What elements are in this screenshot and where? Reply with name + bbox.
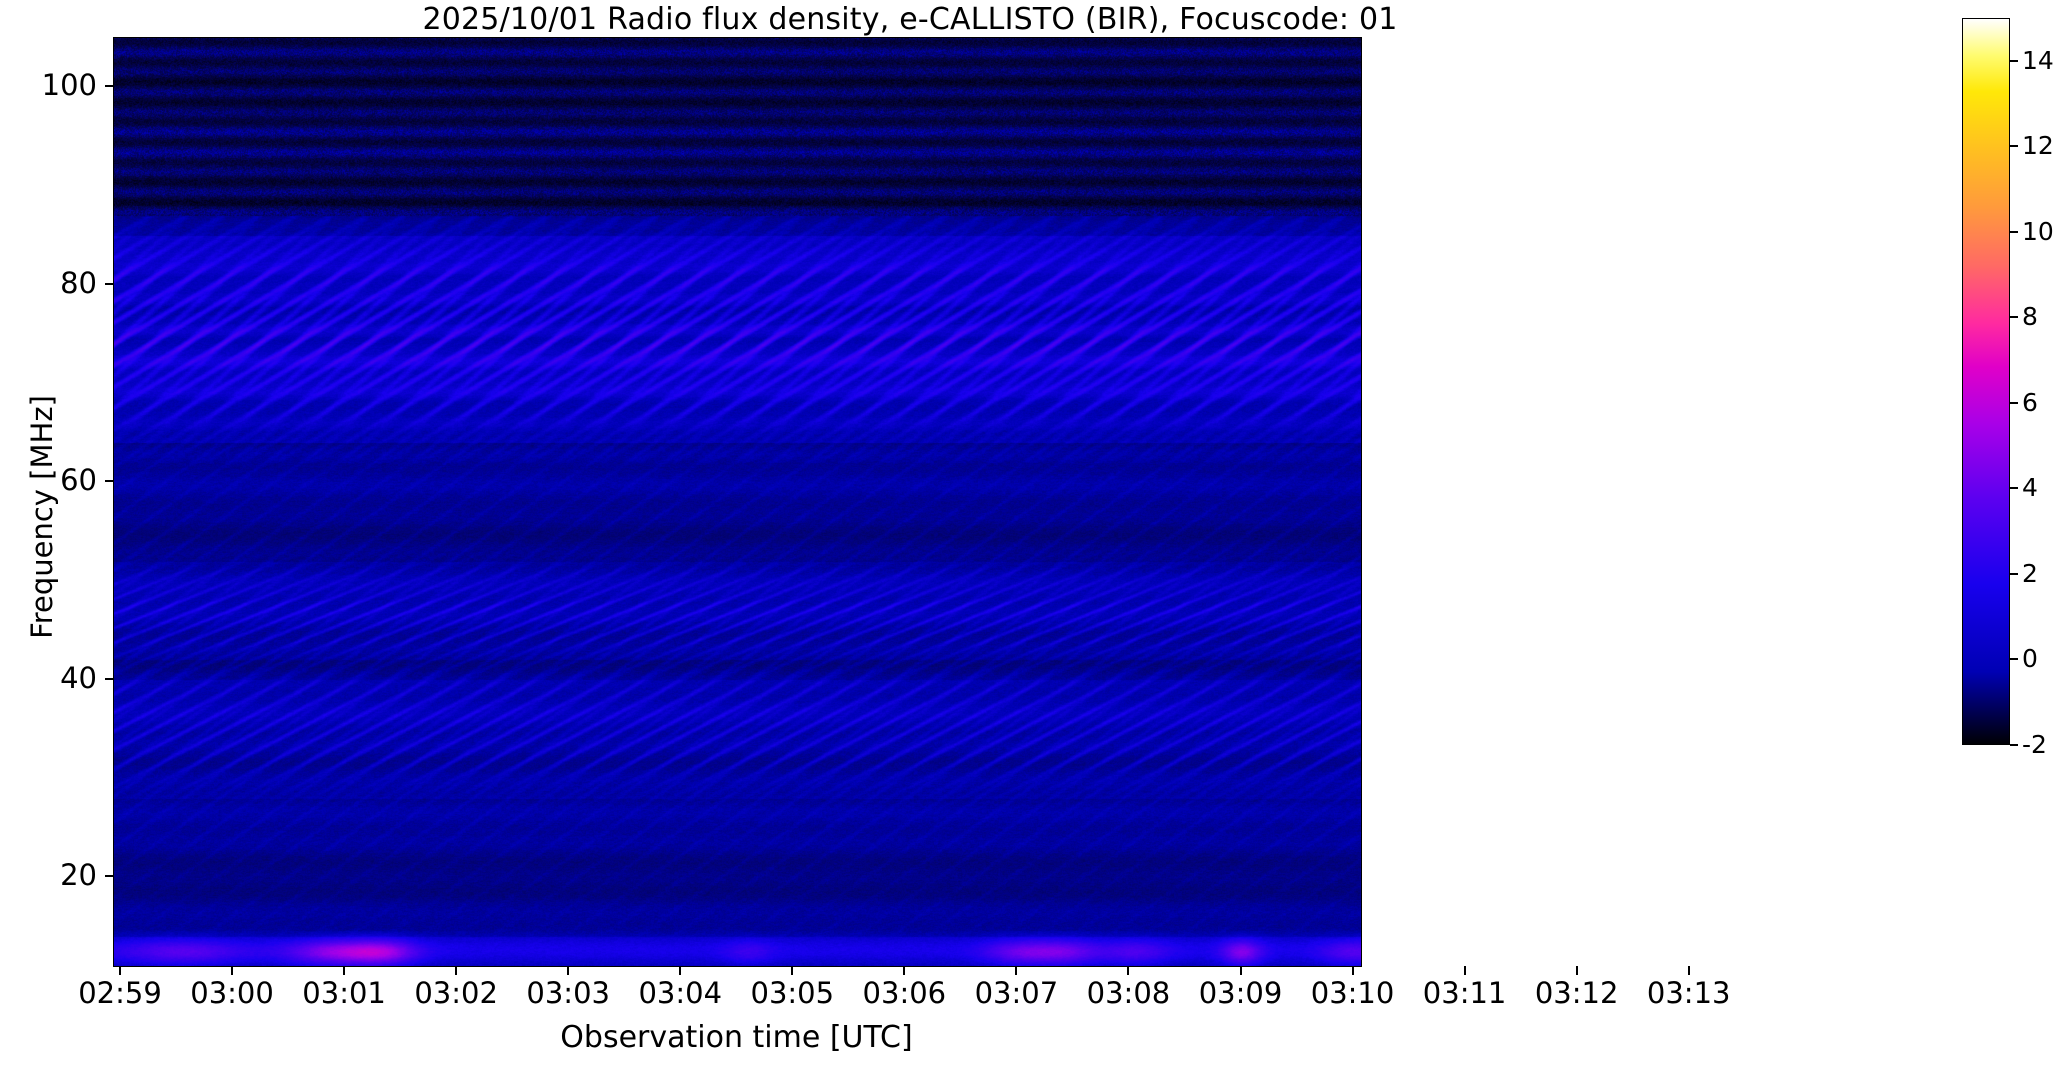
- x-tick-mark: [343, 966, 345, 975]
- x-axis-label: Observation time [UTC]: [113, 1020, 1360, 1055]
- colorbar-tick-mark: [2010, 487, 2018, 489]
- x-tick-mark: [1576, 966, 1578, 975]
- colorbar-tick-mark: [2010, 402, 2018, 404]
- x-tick-mark: [903, 966, 905, 975]
- figure-root: 2025/10/01 Radio flux density, e-CALLIST…: [0, 0, 2066, 1067]
- y-tick-mark: [105, 283, 113, 285]
- x-tick-label: 03:13: [1609, 978, 1769, 1008]
- y-tick-mark: [105, 875, 113, 877]
- spectrogram-image: [114, 38, 1361, 966]
- x-tick-mark: [567, 966, 569, 975]
- x-tick-mark: [1352, 966, 1354, 975]
- colorbar-label-wrap: dB above background: [2038, 150, 2066, 610]
- x-tick-mark: [119, 966, 121, 975]
- x-tick-mark: [1015, 966, 1017, 975]
- colorbar-tick-mark: [2010, 231, 2018, 233]
- colorbar-gradient: [1963, 19, 2009, 744]
- page-title: 2025/10/01 Radio flux density, e-CALLIST…: [0, 2, 1820, 37]
- y-axis-label: Frequency [MHz]: [25, 317, 59, 717]
- y-tick-mark: [105, 480, 113, 482]
- x-tick-mark: [1464, 966, 1466, 975]
- y-axis-label-wrap: Frequency [MHz]: [18, 70, 58, 930]
- colorbar-tick-label: 0: [2022, 646, 2066, 671]
- colorbar-tick-mark: [2010, 60, 2018, 62]
- x-tick-mark: [679, 966, 681, 975]
- colorbar[interactable]: [1962, 18, 2010, 745]
- colorbar-tick-mark: [2010, 316, 2018, 318]
- x-tick-mark: [231, 966, 233, 975]
- colorbar-tick-mark: [2010, 573, 2018, 575]
- spectrogram-plot-area[interactable]: [113, 37, 1362, 967]
- x-tick-mark: [1688, 966, 1690, 975]
- y-tick-mark: [105, 678, 113, 680]
- x-tick-mark: [1240, 966, 1242, 975]
- colorbar-tick-mark: [2010, 145, 2018, 147]
- colorbar-tick-label: -2: [2022, 732, 2066, 757]
- x-tick-mark: [455, 966, 457, 975]
- y-tick-mark: [105, 85, 113, 87]
- colorbar-tick-mark: [2010, 658, 2018, 660]
- x-tick-mark: [791, 966, 793, 975]
- colorbar-tick-label: 14: [2022, 48, 2066, 73]
- x-tick-mark: [1127, 966, 1129, 975]
- colorbar-tick-mark: [2010, 744, 2018, 746]
